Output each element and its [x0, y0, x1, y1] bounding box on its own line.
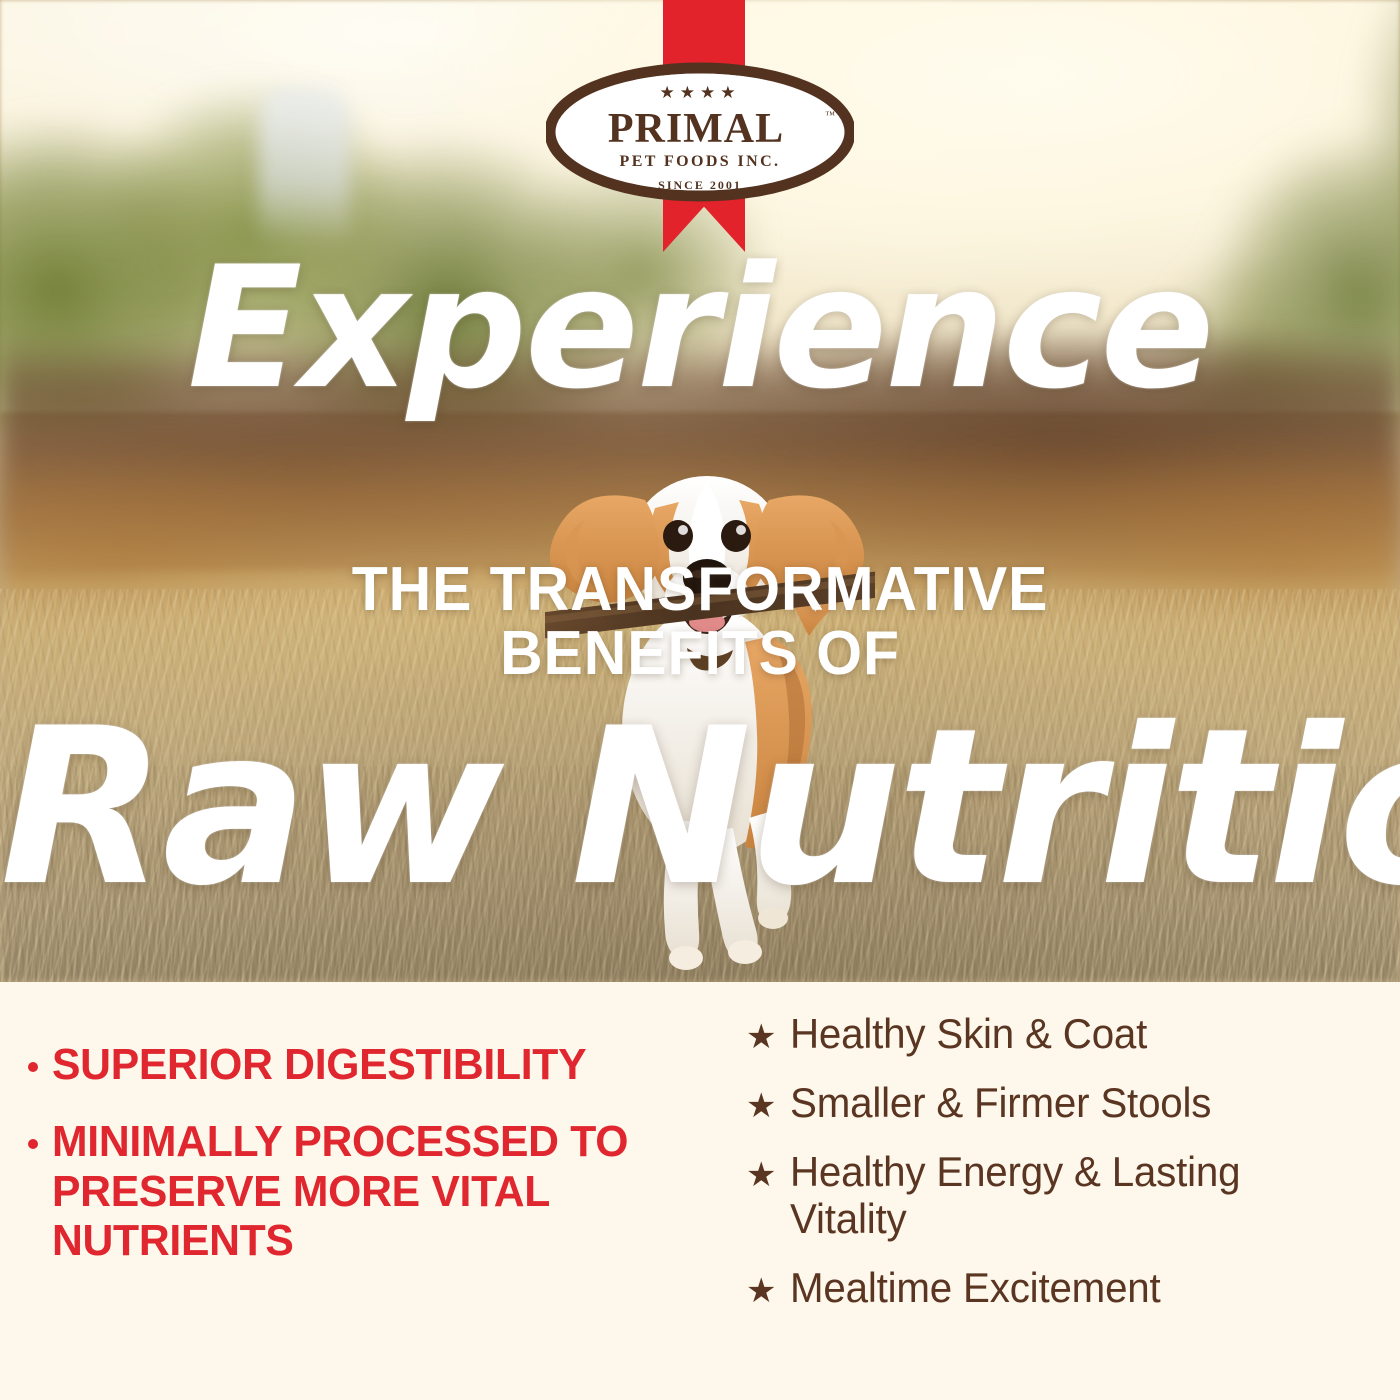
svg-text:PRIMAL: PRIMAL: [608, 106, 784, 152]
bullet-dot-icon: [28, 1062, 38, 1072]
benefit-text: Healthy Skin & Coat: [790, 1010, 1147, 1057]
list-item: MINIMALLY PROCESSED TO PRESERVE MORE VIT…: [22, 1117, 666, 1265]
benefits-panel: SUPERIOR DIGESTIBILITY MINIMALLY PROCESS…: [0, 982, 1400, 1400]
subtitle-line-1: THE TRANSFORMATIVE: [35, 558, 1365, 622]
marketing-poster: ★★★★ PRIMAL ™ PET FOODS INC. SINCE 2001 …: [0, 0, 1400, 1400]
list-item: ★ Mealtime Excitement: [746, 1264, 1390, 1311]
headline-script-top: Experience: [0, 244, 1400, 412]
list-item: ★ Smaller & Firmer Stools: [746, 1079, 1390, 1126]
headline-subtitle: THE TRANSFORMATIVE BENEFITS OF: [0, 558, 1400, 686]
list-item: ★ Healthy Energy & Lasting Vitality: [746, 1148, 1390, 1242]
benefit-text: Healthy Energy & Lasting Vitality: [790, 1148, 1366, 1242]
benefit-text: Smaller & Firmer Stools: [790, 1079, 1211, 1126]
list-item: SUPERIOR DIGESTIBILITY: [22, 1040, 666, 1089]
svg-text:SINCE 2001: SINCE 2001: [658, 178, 742, 192]
svg-text:★★★★: ★★★★: [660, 83, 741, 102]
benefits-right-column: ★ Healthy Skin & Coat ★ Smaller & Firmer…: [690, 982, 1400, 1333]
svg-text:™: ™: [825, 110, 835, 121]
benefit-text: SUPERIOR DIGESTIBILITY: [52, 1040, 586, 1089]
star-icon: ★: [746, 1158, 776, 1192]
star-icon: ★: [746, 1020, 776, 1054]
star-icon: ★: [746, 1089, 776, 1123]
benefit-text: Mealtime Excitement: [790, 1264, 1161, 1311]
bullet-dot-icon: [28, 1139, 38, 1149]
svg-text:PET FOODS INC.: PET FOODS INC.: [620, 153, 781, 170]
benefits-left-column: SUPERIOR DIGESTIBILITY MINIMALLY PROCESS…: [0, 982, 690, 1293]
benefit-text: MINIMALLY PROCESSED TO PRESERVE MORE VIT…: [52, 1117, 648, 1265]
list-item: ★ Healthy Skin & Coat: [746, 1010, 1390, 1057]
star-icon: ★: [746, 1274, 776, 1308]
subtitle-line-2: BENEFITS OF: [35, 622, 1365, 686]
headline-script-bottom: Raw Nutrition: [0, 700, 1400, 916]
hero-photo-section: ★★★★ PRIMAL ™ PET FOODS INC. SINCE 2001 …: [0, 0, 1400, 982]
primal-pet-foods-logo: ★★★★ PRIMAL ™ PET FOODS INC. SINCE 2001: [546, 56, 854, 208]
